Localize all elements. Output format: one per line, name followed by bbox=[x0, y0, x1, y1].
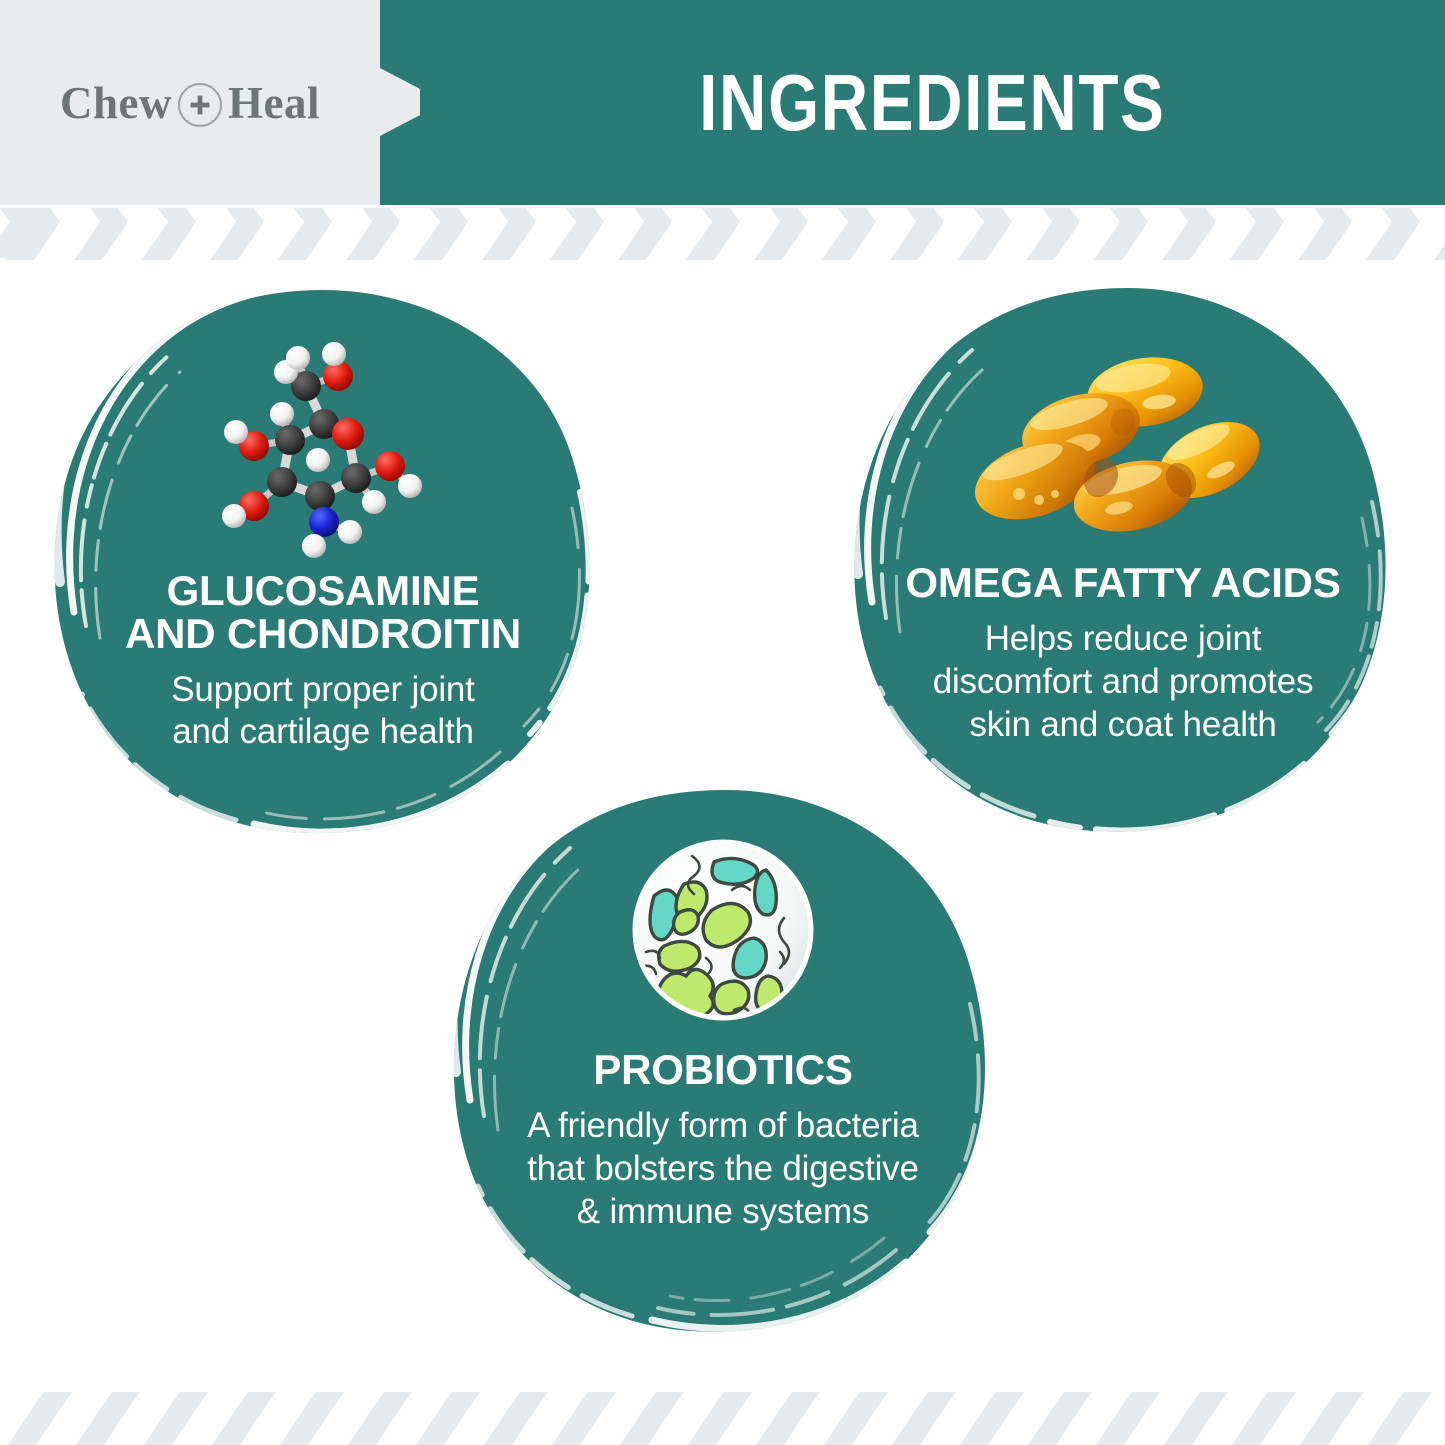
ingredient-title: PROBIOTICS bbox=[593, 1048, 852, 1091]
brand-logo: Chew Heal bbox=[0, 0, 380, 205]
plus-icon bbox=[178, 83, 222, 127]
page-title-text: INGREDIENTS bbox=[699, 57, 1165, 149]
ingredient-card-content: PROBIOTICS A friendly form of bacteria t… bbox=[438, 782, 1008, 1342]
softgel-capsules-icon bbox=[973, 348, 1273, 553]
ingredient-title-line-1: PROBIOTICS bbox=[593, 1048, 852, 1091]
brand-logo-panel: Chew Heal bbox=[0, 0, 420, 205]
brand-logo-text: Chew Heal bbox=[60, 77, 320, 129]
ingredient-card-glucosamine[interactable]: GLUCOSAMINE AND CHONDROITIN Support prop… bbox=[38, 282, 608, 842]
bottom-stripe-band bbox=[0, 1372, 1445, 1445]
bacteria-cell-icon bbox=[628, 834, 818, 1026]
ingredient-title-line-1: GLUCOSAMINE bbox=[125, 569, 521, 612]
ingredient-card-content: OMEGA FATTY ACIDS Helps reduce joint dis… bbox=[838, 282, 1408, 842]
ingredient-title: OMEGA FATTY ACIDS bbox=[905, 561, 1340, 604]
page-header: Chew Heal INGREDIENTS bbox=[0, 0, 1445, 205]
ingredient-card-omega-fatty-acids[interactable]: OMEGA FATTY ACIDS Helps reduce joint dis… bbox=[838, 282, 1408, 842]
ingredient-description: A friendly form of bacteria that bolster… bbox=[527, 1105, 919, 1233]
ingredient-desc-line-2: that bolsters the digestive bbox=[527, 1148, 919, 1191]
brand-name-part1: Chew bbox=[60, 77, 172, 129]
ingredient-desc-line-1: Helps reduce joint bbox=[933, 618, 1314, 661]
ingredient-desc-line-3: & immune systems bbox=[527, 1191, 919, 1234]
ingredient-desc-line-1: Support proper joint bbox=[171, 669, 474, 712]
brand-name-part2: Heal bbox=[228, 77, 320, 129]
ingredient-card-content: GLUCOSAMINE AND CHONDROITIN Support prop… bbox=[38, 282, 608, 842]
page-title: INGREDIENTS bbox=[420, 0, 1445, 205]
ingredient-desc-line-2: discomfort and promotes bbox=[933, 661, 1314, 704]
ingredient-desc-line-3: skin and coat health bbox=[933, 704, 1314, 747]
ingredient-title-line-2: AND CHONDROITIN bbox=[125, 612, 521, 655]
molecule-icon bbox=[198, 336, 448, 561]
ingredient-description: Helps reduce joint discomfort and promot… bbox=[933, 618, 1314, 746]
ingredient-card-probiotics[interactable]: PROBIOTICS A friendly form of bacteria t… bbox=[438, 782, 1008, 1342]
ingredient-description: Support proper joint and cartilage healt… bbox=[171, 669, 474, 754]
top-stripe-band bbox=[0, 200, 1445, 266]
ingredient-desc-line-2: and cartilage health bbox=[171, 711, 474, 754]
ingredient-desc-line-1: A friendly form of bacteria bbox=[527, 1105, 919, 1148]
ingredient-title-line-1: OMEGA FATTY ACIDS bbox=[905, 561, 1340, 604]
ingredient-title: GLUCOSAMINE AND CHONDROITIN bbox=[125, 569, 521, 656]
